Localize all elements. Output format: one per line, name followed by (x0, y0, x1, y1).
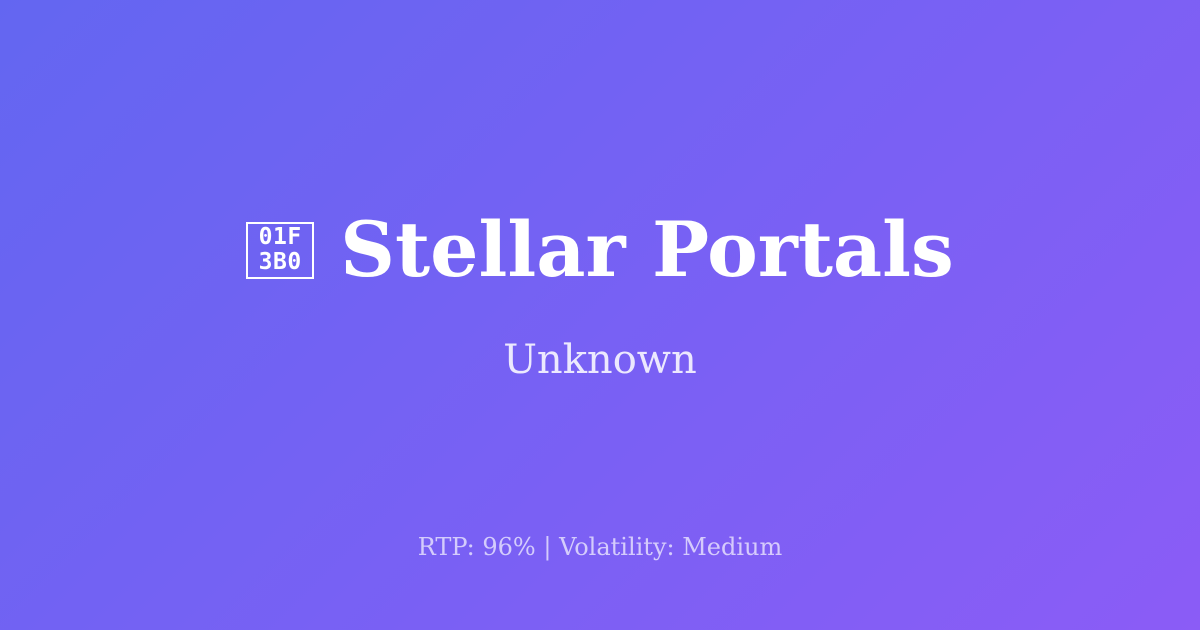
slot-machine-icon: 01F 3B0 (246, 222, 314, 279)
social-share-card: 01F 3B0 Stellar Portals Unknown RTP: 96%… (0, 0, 1200, 630)
slot-machine-icon-codepoint-high: 01F (259, 225, 302, 250)
page-title: Stellar Portals (340, 210, 954, 289)
slot-machine-icon-codepoint-low: 3B0 (259, 250, 302, 275)
page-subtitle: Unknown (503, 336, 697, 384)
game-stats-line: RTP: 96% | Volatility: Medium (0, 532, 1200, 562)
title-row: 01F 3B0 Stellar Portals (246, 210, 954, 289)
